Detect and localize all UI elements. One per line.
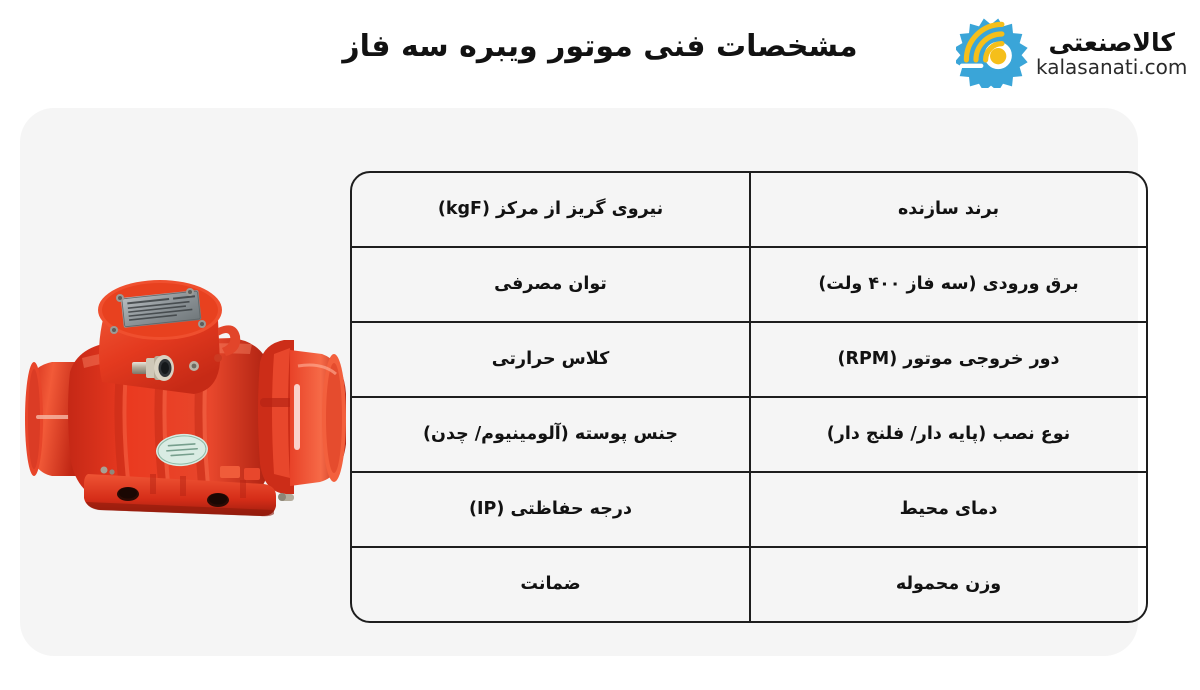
spec-label-left: نیروی گریز از مرکز (kgF) — [352, 173, 749, 246]
spec-label-right: برق ورودی (سه فاز ۴۰۰ ولت) — [749, 248, 1146, 321]
spec-label-right: برند سازنده — [749, 173, 1146, 246]
spec-label-left: درجه حفاظتی (IP) — [352, 473, 749, 546]
spec-label-left: کلاس حرارتی — [352, 323, 749, 396]
brand-name-en: kalasanati.com — [1036, 57, 1187, 77]
table-row: دمای محیط درجه حفاظتی (IP) — [352, 473, 1146, 548]
table-row: وزن محموله ضمانت — [352, 548, 1146, 621]
brand-logo[interactable]: کالاصنعتی kalasanati.com — [956, 12, 1186, 94]
table-row: دور خروجی موتور (RPM) کلاس حرارتی — [352, 323, 1146, 398]
table-row: برق ورودی (سه فاز ۴۰۰ ولت) توان مصرفی — [352, 248, 1146, 323]
gear-wifi-icon — [956, 14, 1030, 88]
brand-name-fa: کالاصنعتی — [1048, 30, 1175, 55]
spec-label-left: توان مصرفی — [352, 248, 749, 321]
product-image-vibrator-motor — [22, 258, 352, 526]
spec-label-right: دمای محیط — [749, 473, 1146, 546]
spec-label-left: ضمانت — [352, 548, 749, 621]
specifications-table: برند سازنده نیروی گریز از مرکز (kgF) برق… — [350, 171, 1148, 623]
spec-label-right: نوع نصب (پایه دار/ فلنج دار) — [749, 398, 1146, 471]
brand-text: کالاصنعتی kalasanati.com — [1036, 30, 1187, 77]
page-header: مشخصات فنی موتور ویبره سه فاز — [0, 0, 1200, 108]
spec-label-left: جنس پوسته (آلومینیوم/ چدن) — [352, 398, 749, 471]
table-row: برند سازنده نیروی گریز از مرکز (kgF) — [352, 173, 1146, 248]
spec-label-right: وزن محموله — [749, 548, 1146, 621]
table-row: نوع نصب (پایه دار/ فلنج دار) جنس پوسته (… — [352, 398, 1146, 473]
spec-label-right: دور خروجی موتور (RPM) — [749, 323, 1146, 396]
